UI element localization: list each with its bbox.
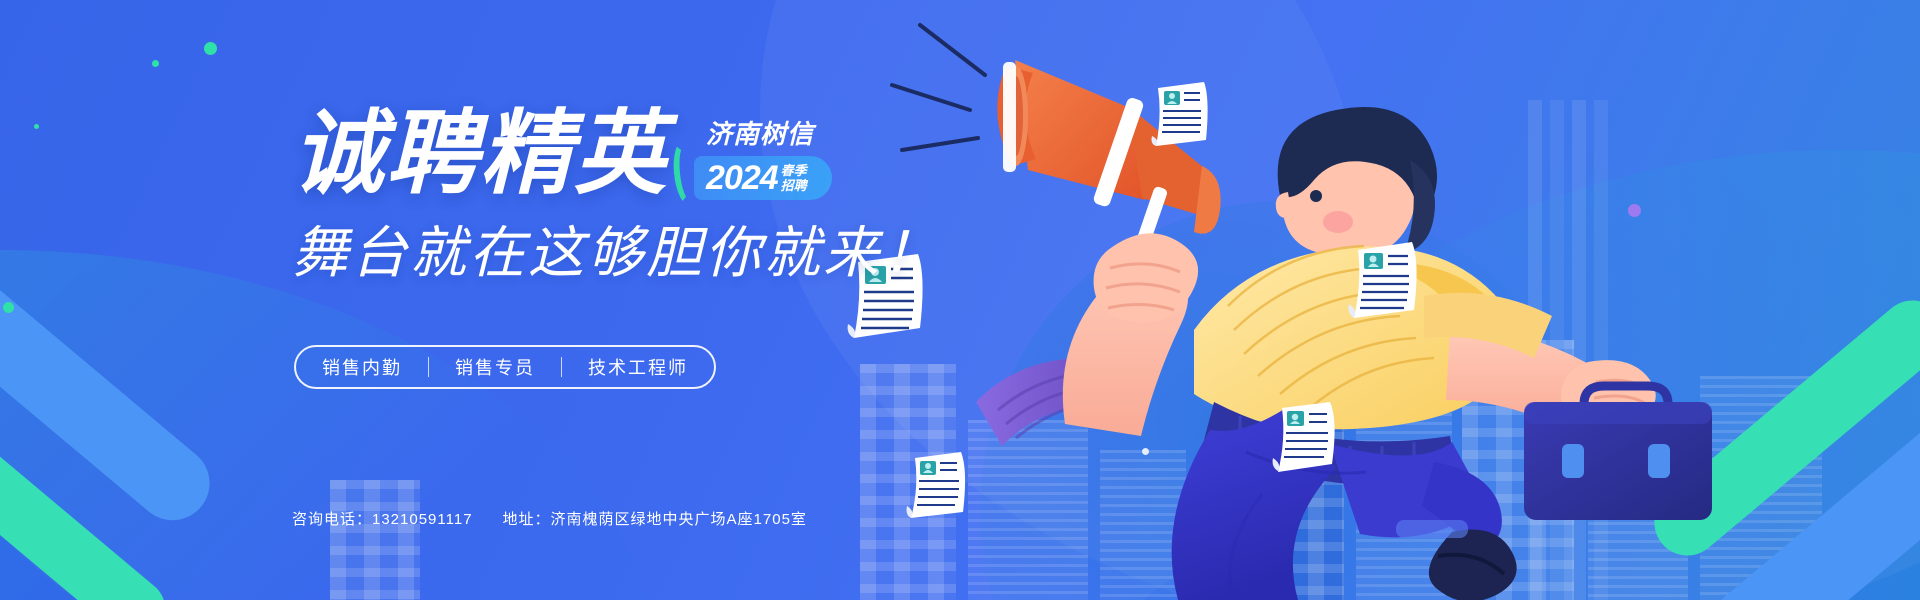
cheek xyxy=(1323,211,1353,233)
text-content: 诚聘精英 济南树信 2024 春季 招聘 舞台就在这够胆你就来！ 销售内勤 销售… xyxy=(0,0,980,600)
job-position-2[interactable]: 技术工程师 xyxy=(588,354,688,380)
page-title: 诚聘精英 xyxy=(292,108,668,200)
job-separator xyxy=(561,357,562,377)
job-separator xyxy=(428,357,429,377)
job-position-1[interactable]: 销售专员 xyxy=(455,354,535,380)
eye xyxy=(1310,190,1322,202)
shoe xyxy=(1429,530,1517,600)
job-positions-pill: 销售内勤 销售专员 技术工程师 xyxy=(294,345,716,389)
headline-row: 诚聘精英 济南树信 2024 春季 招聘 xyxy=(292,108,834,202)
contact-info: 咨询电话：13210591117 地址：济南槐荫区绿地中央广场A座1705室 xyxy=(292,508,807,529)
megaphone-icon xyxy=(997,60,1220,252)
head xyxy=(1276,107,1437,257)
recruitment-badge: 济南树信 2024 春季 招聘 xyxy=(684,114,834,202)
season-line-2: 招聘 xyxy=(781,179,807,194)
season-label: 春季 招聘 xyxy=(781,164,807,193)
year-label: 2024 xyxy=(706,161,778,195)
contact-address: 地址：济南槐荫区绿地中央广场A座1705室 xyxy=(503,508,807,529)
company-name: 济南树信 xyxy=(706,114,814,151)
job-position-0[interactable]: 销售内勤 xyxy=(322,354,402,380)
year-badge: 2024 春季 招聘 xyxy=(694,156,832,200)
contact-phone: 咨询电话：13210591117 xyxy=(292,508,473,529)
recruitment-banner: 诚聘精英 济南树信 2024 春季 招聘 舞台就在这够胆你就来！ 销售内勤 销售… xyxy=(0,0,1920,600)
season-line-1: 春季 xyxy=(781,164,807,179)
briefcase-icon xyxy=(1524,386,1712,520)
page-subtitle: 舞台就在这够胆你就来！ xyxy=(292,208,941,289)
